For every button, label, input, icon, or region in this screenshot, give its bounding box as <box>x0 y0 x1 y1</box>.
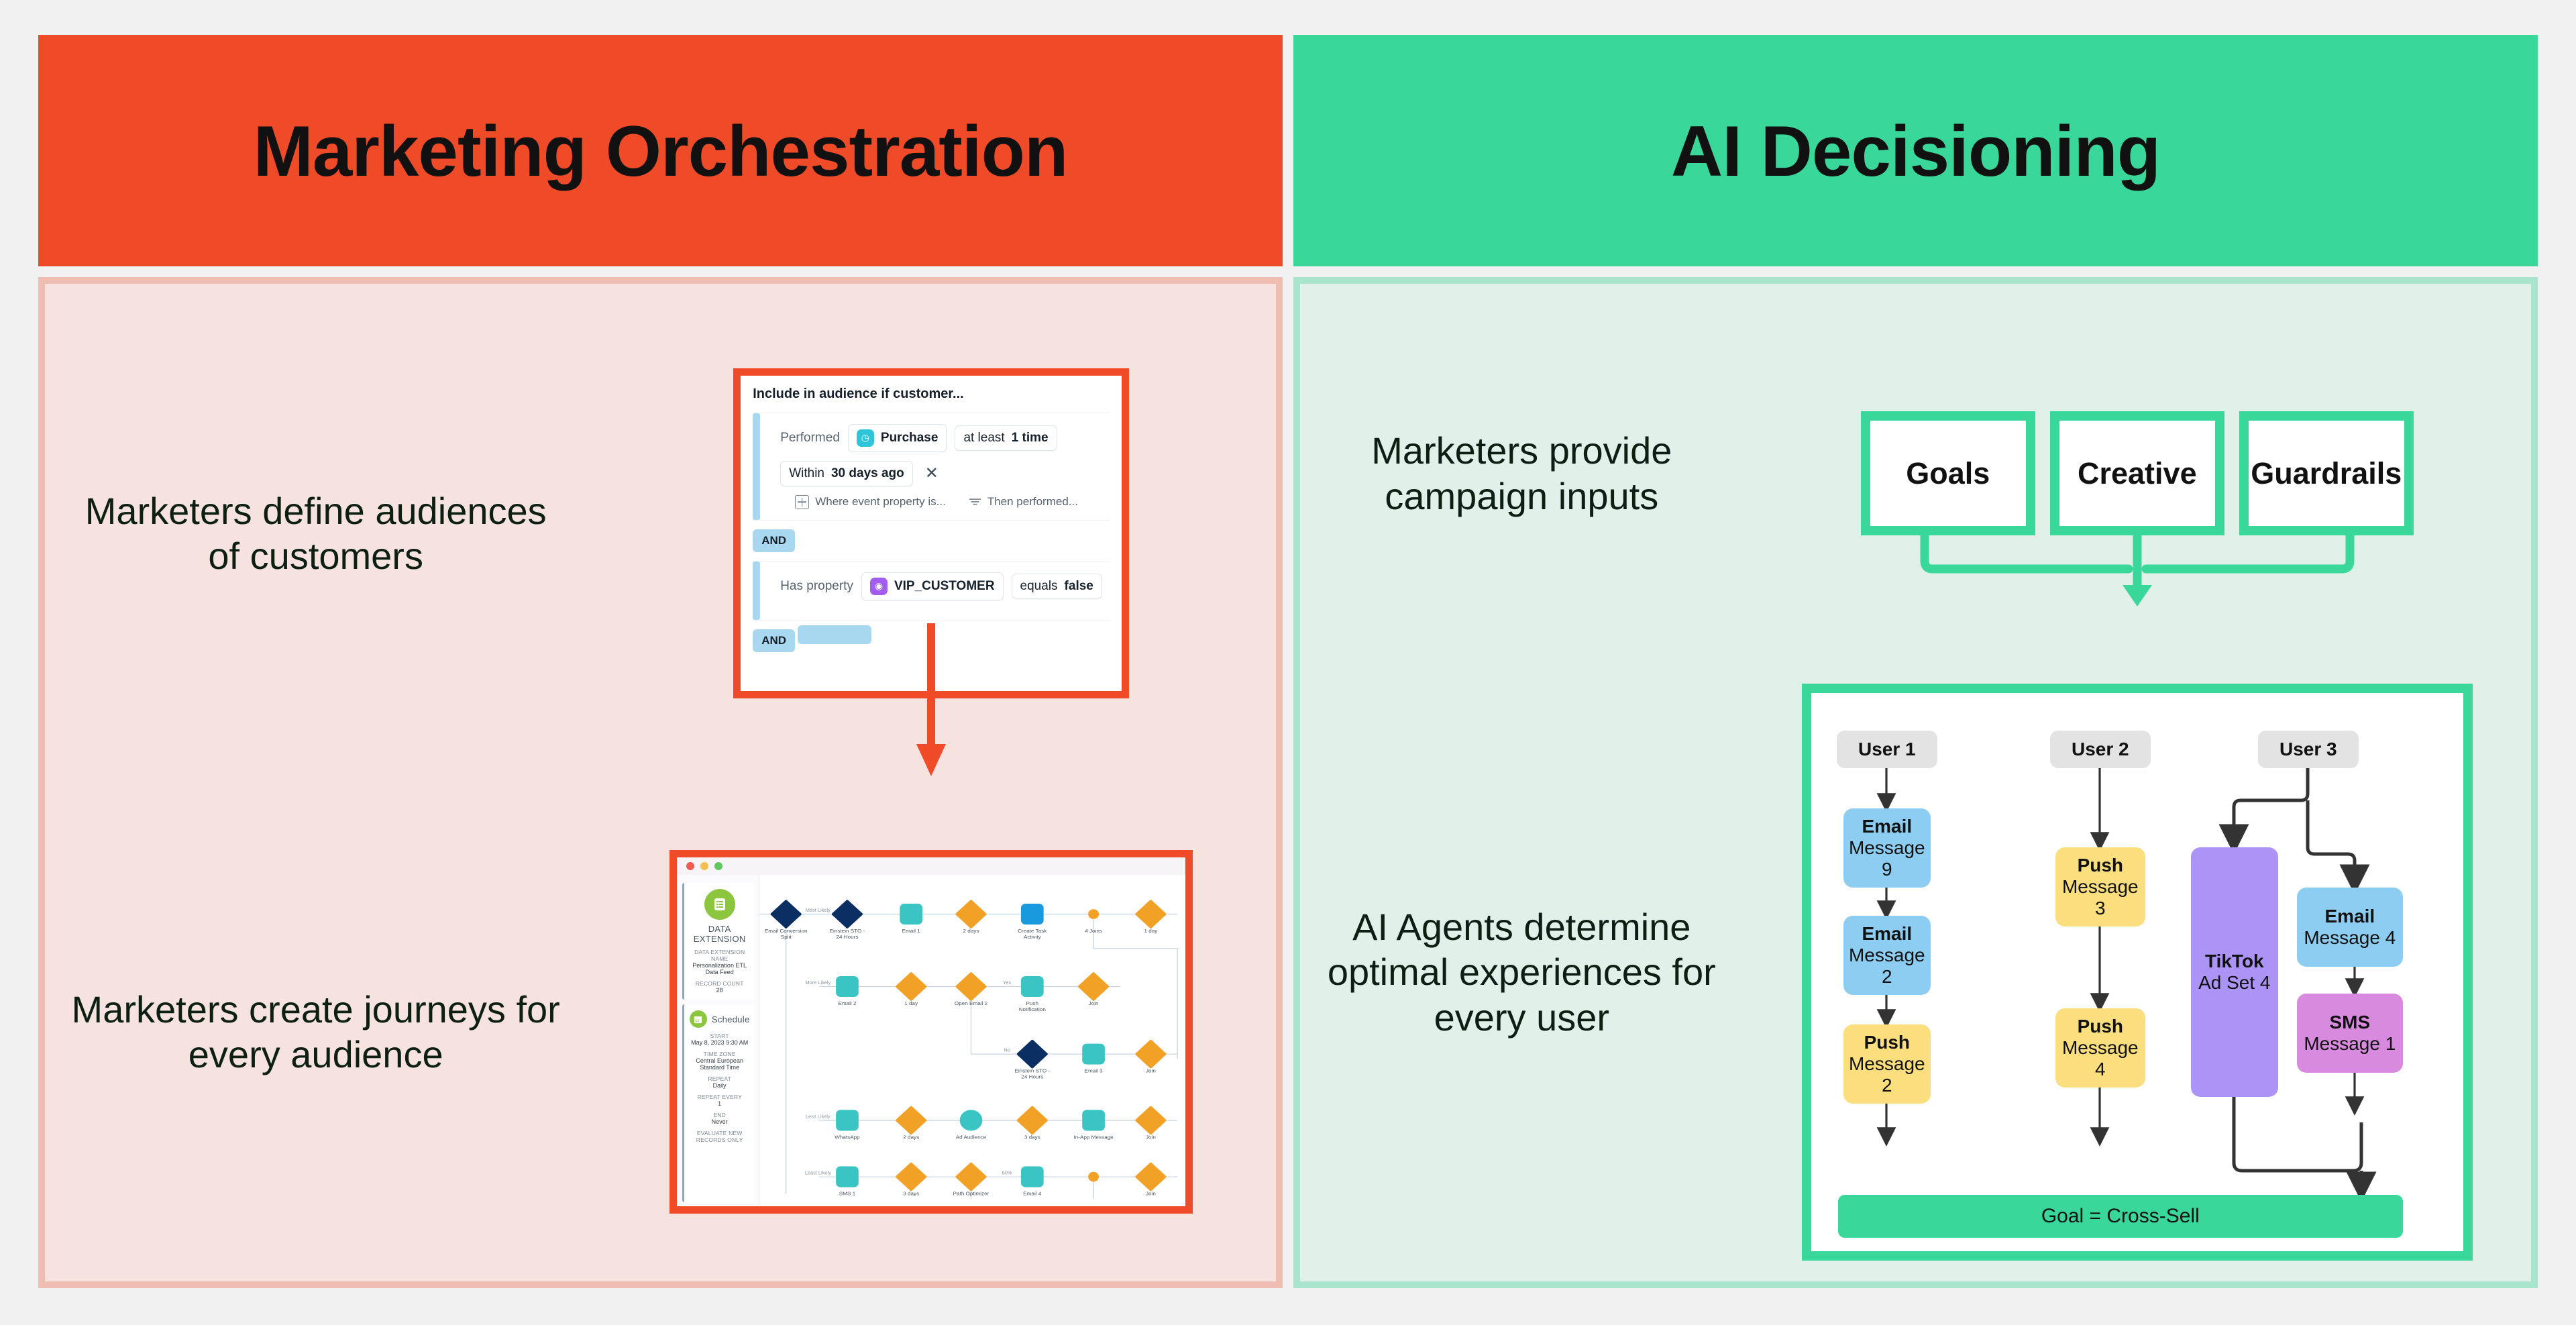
flow-node-u1-3[interactable]: Push Message 2 <box>1843 1024 1931 1104</box>
journey-node[interactable]: Einstein STO -24 Hours <box>830 900 865 941</box>
journey-edge-label: Most Likely <box>806 908 831 913</box>
schedule-card[interactable]: Schedule START May 8, 2023 9:30 AM TIME … <box>682 1004 755 1202</box>
flow-node-channel: Email <box>2324 906 2375 927</box>
journey-edge-label: 60% <box>1002 1171 1013 1176</box>
schedule-timezone-label: TIME ZONE <box>688 1051 751 1057</box>
journey-node-label: Open Email 2 <box>955 1000 987 1006</box>
journey-node[interactable]: PushNotification <box>1019 976 1046 1012</box>
schedule-end-value: Never <box>688 1118 751 1125</box>
journey-node-label: Join <box>1146 1068 1156 1074</box>
rule-1-then-performed-label: Then performed... <box>987 495 1078 509</box>
schedule-end-label: END <box>688 1112 751 1118</box>
right-panel-frame: Marketers provide campaign inputs Goals … <box>1293 277 2538 1288</box>
funnel-icon <box>969 497 981 507</box>
journey-node[interactable]: Email 3 <box>1082 1044 1105 1074</box>
left-steps: Marketers define audiences of customers … <box>45 284 1276 1281</box>
right-steps: Marketers provide campaign inputs Goals … <box>1300 284 2531 1281</box>
journey-node-label: 2 days <box>963 929 979 935</box>
journey-node-label: 3 days <box>1024 1134 1040 1141</box>
journey-node[interactable]: 1 day <box>896 972 928 1006</box>
flow-node-message: Message 9 <box>1843 837 1931 880</box>
schedule-repeat-every-value: 1 <box>688 1100 751 1107</box>
flow-node-channel: Push <box>2078 855 2123 876</box>
flow-node-message: Ad Set 4 <box>2198 972 2270 994</box>
campaign-input-boxes: Goals Creative Guardrails <box>1861 411 2414 535</box>
journey-node[interactable]: Email 4 <box>1021 1167 1044 1197</box>
journey-node[interactable]: Ad Audience <box>956 1110 987 1141</box>
left-step-row-2: Marketers create journeys for every audi… <box>45 783 1276 1282</box>
audience-rule-2: Has property ◉ VIP_CUSTOMER equals false <box>753 561 1110 621</box>
journey-node[interactable] <box>1088 1172 1099 1182</box>
flow-node-u1-2[interactable]: Email Message 2 <box>1843 916 1931 995</box>
decision-flow-diagram: User 1 User 2 User 3 Email Message 9 Ema… <box>1802 684 2473 1261</box>
left-step-1-text: Marketers define audiences of customers <box>45 488 586 578</box>
journey-node[interactable]: Email 1 <box>900 904 923 934</box>
journey-node-label: Join <box>1146 1191 1156 1197</box>
input-box-goals-label: Goals <box>1906 456 1990 491</box>
journey-edge-label: Less Likely <box>806 1114 830 1120</box>
orchestration-flow-arrow <box>911 623 951 778</box>
journey-builder-visual: DATA EXTENSION DATA EXTENSION NAME Perso… <box>586 850 1276 1214</box>
flow-node-u3-tiktok[interactable]: TikTok Ad Set 4 <box>2191 847 2278 1097</box>
journey-node[interactable]: SMS 1 <box>836 1167 859 1197</box>
calendar-icon <box>690 1010 707 1028</box>
journey-node-label: WhatsApp <box>835 1134 860 1141</box>
window-titlebar <box>677 857 1185 875</box>
rule-2-property-chip[interactable]: ◉ VIP_CUSTOMER <box>861 572 1004 600</box>
journey-node-label: Email 1 <box>902 929 920 935</box>
user-column-header-2: User 2 <box>2050 731 2151 768</box>
journey-edge-label: More Likely <box>806 980 831 986</box>
journey-node-label: 2 days <box>903 1134 919 1141</box>
rule-1-count-prefix: at least <box>963 431 1004 445</box>
journey-node-label: 1 day <box>904 1000 918 1006</box>
journey-node-label: Notification <box>1019 1007 1046 1013</box>
journey-edge-label: Least Likely <box>805 1171 832 1176</box>
flow-node-u3-email[interactable]: Email Message 4 <box>2297 888 2403 967</box>
journey-node[interactable]: Email 2 <box>836 976 859 1006</box>
journey-builder-window: DATA EXTENSION DATA EXTENSION NAME Perso… <box>677 857 1185 1206</box>
schedule-start-value: May 8, 2023 9:30 AM <box>688 1039 751 1046</box>
right-header-title: AI Decisioning <box>1671 109 2160 193</box>
rule-1-event-value: Purchase <box>881 431 938 445</box>
data-extension-name-label: DATA EXTENSION NAME <box>688 949 751 962</box>
flow-node-message: Message 2 <box>1843 945 1931 988</box>
rule-1-label: Performed <box>780 431 840 445</box>
journey-node-label: SMS 1 <box>839 1191 855 1197</box>
plus-box-icon <box>795 495 809 509</box>
left-panel-body: Marketers define audiences of customers … <box>45 284 1276 1281</box>
add-filter-button[interactable] <box>798 625 871 644</box>
right-step-2-text: AI Agents determine optimal experiences … <box>1300 904 1743 1040</box>
user-column-header-1: User 1 <box>1837 731 1937 768</box>
list-icon <box>704 889 735 920</box>
flow-node-channel: Push <box>2078 1016 2123 1037</box>
right-panel-body: Marketers provide campaign inputs Goals … <box>1300 284 2531 1281</box>
left-panel-frame: Marketers define audiences of customers … <box>38 277 1283 1288</box>
input-box-goals[interactable]: Goals <box>1861 411 2035 535</box>
flow-node-message: Message 1 <box>2304 1033 2396 1055</box>
schedule-repeat-value: Daily <box>688 1082 751 1089</box>
flow-node-message: Message 4 <box>2055 1037 2145 1080</box>
journey-node[interactable]: WhatsApp <box>835 1110 860 1141</box>
goal-bar: Goal = Cross-Sell <box>1838 1195 2403 1238</box>
right-step-1-text: Marketers provide campaign inputs <box>1300 428 1743 518</box>
decision-flow-visual: User 1 User 2 User 3 Email Message 9 Ema… <box>1743 684 2531 1261</box>
rule-1-count-chip[interactable]: at least 1 time <box>955 425 1057 451</box>
journey-node[interactable]: Join <box>1077 972 1110 1006</box>
tag-icon: ◉ <box>870 578 888 595</box>
journey-node[interactable]: 2 days <box>896 1106 928 1140</box>
journey-node[interactable]: Email ConversionSplit <box>765 900 808 941</box>
journey-node-label: Join <box>1089 1000 1099 1006</box>
input-box-guardrails-label: Guardrails <box>2251 456 2402 491</box>
right-step-row-1: Marketers provide campaign inputs Goals … <box>1300 284 2531 663</box>
schedule-repeat-every-label: REPEAT EVERY <box>688 1094 751 1100</box>
journey-node-label: Email 4 <box>1023 1191 1042 1197</box>
inputs-merge-arrow <box>1835 534 2439 608</box>
journey-node-label: 3 days <box>903 1191 919 1197</box>
schedule-timezone-value: Central European Standard Time <box>688 1057 751 1071</box>
rule-2-operator-chip[interactable]: equals false <box>1012 574 1102 599</box>
journey-node[interactable]: In-App Message <box>1074 1110 1114 1141</box>
ai-decisioning-column: AI Decisioning Marketers provide campaig… <box>1293 35 2538 1288</box>
rule-1-add-property-label: Where event property is... <box>815 495 946 509</box>
journey-node-label: Email 3 <box>1085 1068 1103 1074</box>
rule-1-window-chip[interactable]: Within 30 days ago <box>780 461 913 486</box>
campaign-inputs-visual: Goals Creative Guardrails <box>1743 411 2531 535</box>
journey-node-label: Email 2 <box>839 1000 857 1006</box>
flow-node-message: Message 3 <box>2055 876 2145 919</box>
left-step-row-1: Marketers define audiences of customers … <box>45 284 1276 783</box>
marketing-orchestration-column: Marketing Orchestration Marketers define… <box>38 35 1283 1288</box>
journey-node-label: 4 Joins <box>1085 929 1102 935</box>
journey-node-label: Push <box>1026 1000 1039 1006</box>
journey-sidebar: DATA EXTENSION DATA EXTENSION NAME Perso… <box>677 875 759 1206</box>
record-count-value: 28 <box>688 987 751 994</box>
audience-operator-2[interactable]: AND <box>753 629 795 652</box>
left-header: Marketing Orchestration <box>38 35 1283 266</box>
user-column-header-3: User 3 <box>2258 731 2359 768</box>
schedule-repeat-label: REPEAT <box>688 1075 751 1082</box>
journey-node-label: Einstein STO - <box>1015 1068 1051 1074</box>
flow-node-u2-2[interactable]: Push Message 4 <box>2055 1008 2145 1088</box>
flow-node-u2-1[interactable]: Push Message 3 <box>2055 847 2145 926</box>
rule-2-operator-value: false <box>1065 579 1093 594</box>
audience-rule-1: Performed ◷ Purchase at least 1 time <box>753 413 1110 521</box>
schedule-start-label: START <box>688 1032 751 1039</box>
journey-node[interactable]: 1 day <box>1135 900 1167 934</box>
flow-node-channel: Email <box>1862 816 1912 837</box>
rule-accent-bar <box>753 562 760 620</box>
right-step-row-2: AI Agents determine optimal experiences … <box>1300 663 2531 1281</box>
window-maximize-dot[interactable] <box>714 862 722 870</box>
window-minimize-dot[interactable] <box>700 862 708 870</box>
data-extension-title: DATA EXTENSION <box>688 924 751 944</box>
journey-node-label: Split <box>781 935 792 941</box>
journey-node[interactable]: 3 days <box>1016 1106 1049 1140</box>
journey-node[interactable]: Open Email 2 <box>955 972 987 1006</box>
flow-node-channel: Email <box>1862 923 1912 945</box>
rule-accent-bar <box>753 413 760 520</box>
flow-node-u1-1[interactable]: Email Message 9 <box>1843 808 1931 888</box>
journey-edge-label: No <box>1004 1048 1011 1053</box>
rule-1-event-chip[interactable]: ◷ Purchase <box>848 424 947 452</box>
audience-builder-visual: Include in audience if customer... Perfo… <box>586 368 1276 698</box>
rule-2-operator-prefix: equals <box>1020 579 1058 594</box>
data-extension-name-value: Personalization ETL Data Feed <box>688 962 751 975</box>
rule-1-then-performed-action[interactable]: Then performed... <box>969 495 1078 509</box>
rule-2-property-value: VIP_CUSTOMER <box>894 579 995 594</box>
audience-builder-title: Include in audience if customer... <box>753 386 1110 402</box>
rule-1-add-property-action[interactable]: Where event property is... <box>795 495 946 509</box>
comparison-board: Marketing Orchestration Marketers define… <box>38 35 2538 1288</box>
rule-1-count-value: 1 time <box>1012 431 1049 445</box>
journey-node[interactable]: Join <box>1135 1106 1167 1140</box>
flow-node-channel: TikTok <box>2205 951 2264 972</box>
rule-1-window-prefix: Within <box>789 466 824 481</box>
journey-node[interactable]: Join <box>1135 1162 1167 1196</box>
journey-node[interactable]: Einstein STO -24 Hours <box>1015 1039 1051 1080</box>
flow-node-u3-sms[interactable]: SMS Message 1 <box>2297 994 2403 1073</box>
record-count-label: RECORD COUNT <box>688 980 751 987</box>
journey-node-label: Create Task <box>1018 929 1046 935</box>
journey-node[interactable]: Create TaskActivity <box>1018 904 1046 940</box>
input-box-creative[interactable]: Creative <box>2050 411 2224 535</box>
journey-node-label: Email Conversion <box>765 929 808 935</box>
flow-node-channel: Push <box>1864 1032 1910 1053</box>
rule-1-window-value: 30 days ago <box>831 466 904 481</box>
flow-node-message: Message 2 <box>1843 1053 1931 1096</box>
input-box-guardrails[interactable]: Guardrails <box>2239 411 2414 535</box>
schedule-evaluate-label: EVALUATE NEW RECORDS ONLY <box>688 1130 751 1143</box>
journey-node[interactable]: 3 days <box>896 1162 928 1196</box>
journey-node-label: Einstein STO - <box>830 929 865 935</box>
close-icon[interactable]: ✕ <box>921 464 943 483</box>
journey-node-label: Activity <box>1024 935 1041 941</box>
journey-node-label: Path Optimizer <box>953 1191 989 1197</box>
input-box-creative-label: Creative <box>2078 456 2197 491</box>
journey-node[interactable]: Join <box>1135 1039 1167 1073</box>
journey-node[interactable]: 2 days <box>955 900 987 934</box>
journey-edge-label: Yes <box>1003 980 1012 986</box>
right-header: AI Decisioning <box>1293 35 2538 266</box>
clock-icon: ◷ <box>857 429 874 447</box>
left-header-title: Marketing Orchestration <box>254 109 1068 193</box>
flow-node-message: Message 4 <box>2304 927 2396 949</box>
journey-node-label: Join <box>1146 1134 1156 1141</box>
left-step-2-text: Marketers create journeys for every audi… <box>45 987 586 1077</box>
journey-node-label: 24 Hours <box>1022 1074 1044 1080</box>
journey-builder-screenshot: DATA EXTENSION DATA EXTENSION NAME Perso… <box>669 850 1193 1214</box>
journey-node-label: Ad Audience <box>956 1134 987 1141</box>
journey-node-label: 1 day <box>1144 929 1158 935</box>
flow-node-channel: SMS <box>2329 1012 2370 1033</box>
journey-canvas[interactable]: Email ConversionSplitEinstein STO -24 Ho… <box>759 875 1185 1206</box>
journey-node[interactable]: Path Optimizer <box>953 1162 989 1196</box>
data-extension-card[interactable]: DATA EXTENSION DATA EXTENSION NAME Perso… <box>682 883 755 1000</box>
schedule-title: Schedule <box>712 1014 750 1024</box>
rule-2-label: Has property <box>780 579 853 594</box>
journey-node-label: 24 Hours <box>837 935 859 941</box>
audience-operator-1[interactable]: AND <box>753 529 795 552</box>
journey-node-label: In-App Message <box>1074 1134 1114 1141</box>
window-close-dot[interactable] <box>686 862 694 870</box>
